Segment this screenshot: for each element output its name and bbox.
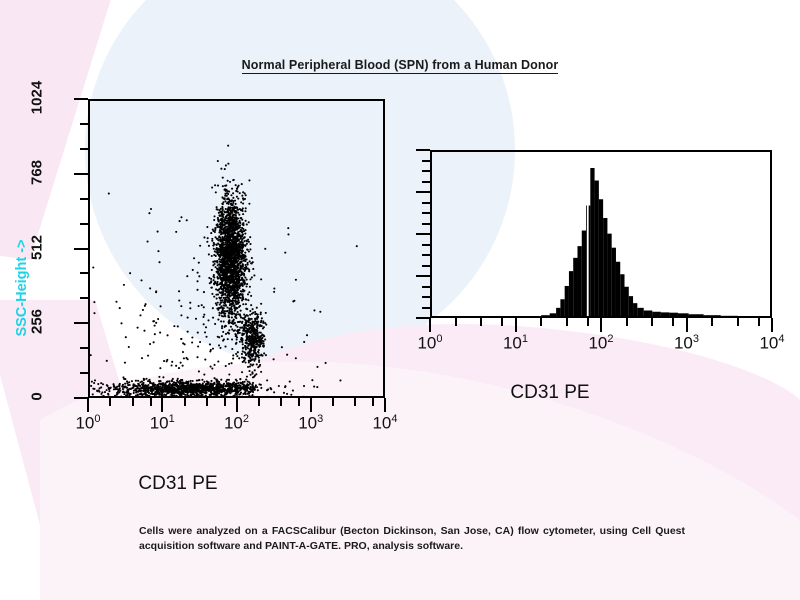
histogram-y-tick-minor (422, 181, 430, 183)
histogram-x-tick-minor (651, 318, 653, 326)
scatter-y-tick-major (74, 397, 88, 399)
histogram-y-ticks (414, 150, 430, 318)
histogram-x-tick-major (429, 318, 431, 332)
scatter-x-axis-title: CD31 PE (88, 473, 268, 495)
histogram-x-tick-minor (501, 318, 503, 326)
scatter-x-tick-major (161, 398, 163, 412)
histogram-x-tick-minor (455, 318, 457, 326)
scatter-y-tick-minor (80, 223, 88, 225)
histogram-x-tick-label: 104 (759, 333, 784, 354)
scatter-x-tick-major (87, 398, 89, 412)
figure-title-text: Normal Peripheral Blood (SPN) from a Hum… (242, 58, 559, 74)
scatter-y-tick-major (74, 98, 88, 100)
scatter-y-tick-label: 0 (29, 370, 46, 424)
scatter-y-tick-minor (80, 347, 88, 349)
scatter-x-tick-minor (150, 398, 152, 406)
histogram-y-tick-major (416, 149, 430, 151)
scatter-x-tick-label: 103 (298, 413, 323, 434)
histogram-y-tick-major (416, 233, 430, 235)
histogram-x-tick-label: 100 (417, 333, 442, 354)
scatter-y-tick-label: 768 (29, 145, 46, 199)
scatter-x-tick-minor (132, 398, 134, 406)
histogram-y-tick-major (416, 275, 430, 277)
figure-root: Normal Peripheral Blood (SPN) from a Hum… (0, 0, 800, 600)
scatter-x-tick-minor (206, 398, 208, 406)
histogram-x-tick-major (600, 318, 602, 332)
histogram-x-axis-labels: 100101102103104 (430, 333, 772, 363)
histogram-x-tick-minor (587, 318, 589, 326)
scatter-x-ticks: 100101102103104 (88, 398, 385, 414)
scatter-x-tick-label: 101 (150, 413, 175, 434)
scatter-y-tick-minor (80, 198, 88, 200)
histogram-x-tick-label: 102 (588, 333, 613, 354)
histogram-x-tick-minor (672, 318, 674, 326)
histogram-x-tick-minor (737, 318, 739, 326)
scatter-y-tick-label: 256 (29, 295, 46, 349)
scatter-plot-frame (88, 99, 385, 398)
histogram-x-tick-major (686, 318, 688, 332)
histogram-x-tick-minor (711, 318, 713, 326)
scatter-x-tick-major (310, 398, 312, 412)
scatter-x-tick-major (384, 398, 386, 412)
histogram-y-tick-minor (422, 286, 430, 288)
scatter-x-tick-minor (298, 398, 300, 406)
scatter-x-tick-label: 104 (372, 413, 397, 434)
histogram-y-tick-minor (422, 170, 430, 172)
scatter-y-ticks (72, 99, 88, 398)
scatter-x-tick-minor (258, 398, 260, 406)
scatter-x-tick-minor (280, 398, 282, 406)
histogram-x-tick-minor (566, 318, 568, 326)
scatter-y-tick-major (74, 173, 88, 175)
scatter-y-tick-minor (80, 148, 88, 150)
scatter-x-tick-minor (354, 398, 356, 406)
scatter-plot-panel (88, 99, 385, 398)
histogram-y-tick-minor (422, 307, 430, 309)
scatter-x-tick-label: 102 (224, 413, 249, 434)
histogram-panel (430, 150, 772, 318)
histogram-x-axis-title: CD31 PE (430, 382, 670, 404)
histogram-x-tick-minor (758, 318, 760, 326)
histogram-x-tick-label: 101 (503, 333, 528, 354)
scatter-y-axis-labels: 02565127681024 (0, 99, 72, 398)
figure-title: Normal Peripheral Blood (SPN) from a Hum… (0, 58, 800, 72)
histogram-x-tick-minor (480, 318, 482, 326)
histogram-x-tick-major (771, 318, 773, 332)
scatter-y-tick-label: 1024 (29, 71, 46, 125)
scatter-y-tick-minor (80, 372, 88, 374)
histogram-y-tick-minor (422, 202, 430, 204)
scatter-x-tick-major (236, 398, 238, 412)
histogram-y-tick-minor (422, 296, 430, 298)
scatter-x-tick-minor (332, 398, 334, 406)
histogram-x-tick-minor (540, 318, 542, 326)
histogram-x-ticks (430, 318, 772, 334)
scatter-x-tick-minor (224, 398, 226, 406)
scatter-x-tick-minor (372, 398, 374, 406)
figure-caption: Cells were analyzed on a FACSCalibur (Be… (139, 524, 685, 554)
scatter-x-tick-minor (109, 398, 111, 406)
histogram-frame (430, 150, 772, 318)
histogram-y-tick-minor (422, 212, 430, 214)
histogram-x-tick-major (515, 318, 517, 332)
scatter-y-tick-minor (80, 272, 88, 274)
histogram-x-tick-label: 103 (674, 333, 699, 354)
histogram-y-tick-minor (422, 254, 430, 256)
scatter-y-tick-minor (80, 123, 88, 125)
scatter-x-tick-minor (184, 398, 186, 406)
histogram-y-tick-major (416, 317, 430, 319)
histogram-y-tick-minor (422, 223, 430, 225)
histogram-y-tick-minor (422, 265, 430, 267)
scatter-y-tick-minor (80, 297, 88, 299)
histogram-y-tick-minor (422, 244, 430, 246)
histogram-y-tick-major (416, 191, 430, 193)
scatter-y-tick-label: 512 (29, 220, 46, 274)
histogram-x-tick-minor (626, 318, 628, 326)
scatter-y-tick-major (74, 322, 88, 324)
scatter-y-tick-major (74, 248, 88, 250)
scatter-y-axis-title: SSC-Height -> (14, 203, 30, 373)
scatter-x-tick-label: 100 (75, 413, 100, 434)
histogram-y-tick-minor (422, 160, 430, 162)
